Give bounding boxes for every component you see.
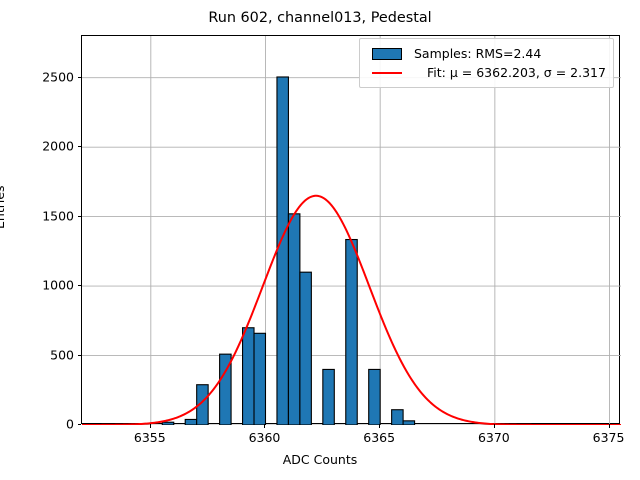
- histogram-bar: [369, 369, 380, 425]
- chart-legend: Samples: RMS=2.44 Fit: μ = 6362.203, σ =…: [359, 38, 614, 88]
- histogram-bar: [277, 77, 288, 425]
- histogram-bar: [403, 421, 414, 425]
- x-tick-label: 6365: [363, 430, 395, 445]
- page-title: Run 602, channel013, Pedestal: [0, 10, 640, 26]
- histogram-bar: [346, 240, 357, 425]
- legend-patch-icon: [367, 48, 407, 60]
- x-tick-mark: [264, 424, 265, 428]
- histogram-bar: [162, 422, 173, 425]
- x-tick-label: 6355: [134, 430, 166, 445]
- legend-label-samples: Samples: RMS=2.44: [414, 46, 541, 61]
- legend-item-fit: Fit: μ = 6362.203, σ = 2.317: [367, 63, 606, 82]
- plot-canvas: [82, 36, 621, 425]
- y-tick-label: 1500: [0, 208, 74, 223]
- plot-area: [81, 35, 620, 424]
- y-tick-mark: [78, 146, 82, 147]
- legend-label-fit: Fit: μ = 6362.203, σ = 2.317: [414, 65, 606, 80]
- x-tick-mark: [609, 424, 610, 428]
- y-tick-label: 500: [0, 347, 74, 362]
- matplotlib-figure: Run 602, channel013, Pedestal 0500100015…: [0, 0, 640, 480]
- y-tick-mark: [78, 216, 82, 217]
- histogram-bar: [323, 369, 334, 425]
- x-tick-mark: [494, 424, 495, 428]
- x-tick-label: 6375: [593, 430, 625, 445]
- y-tick-mark: [78, 424, 82, 425]
- x-tick-mark: [150, 424, 151, 428]
- legend-item-samples: Samples: RMS=2.44: [367, 44, 606, 63]
- y-tick-label: 2500: [0, 69, 74, 84]
- y-tick-mark: [78, 285, 82, 286]
- histogram-bar: [254, 333, 265, 425]
- x-tick-label: 6370: [478, 430, 510, 445]
- x-axis-label: ADC Counts: [0, 452, 640, 467]
- histogram-bars: [162, 77, 414, 425]
- y-tick-mark: [78, 77, 82, 78]
- legend-line-icon: [367, 72, 407, 74]
- histogram-bar: [300, 272, 311, 425]
- histogram-bar: [288, 214, 299, 425]
- y-tick-label: 2000: [0, 139, 74, 154]
- histogram-bar: [392, 410, 403, 425]
- x-tick-label: 6360: [249, 430, 281, 445]
- histogram-bar: [185, 419, 196, 425]
- y-tick-label: 1000: [0, 278, 74, 293]
- histogram-bar: [243, 328, 254, 425]
- x-tick-mark: [379, 424, 380, 428]
- y-axis-label: Entries: [0, 185, 7, 229]
- y-tick-mark: [78, 355, 82, 356]
- y-tick-label: 0: [0, 417, 74, 432]
